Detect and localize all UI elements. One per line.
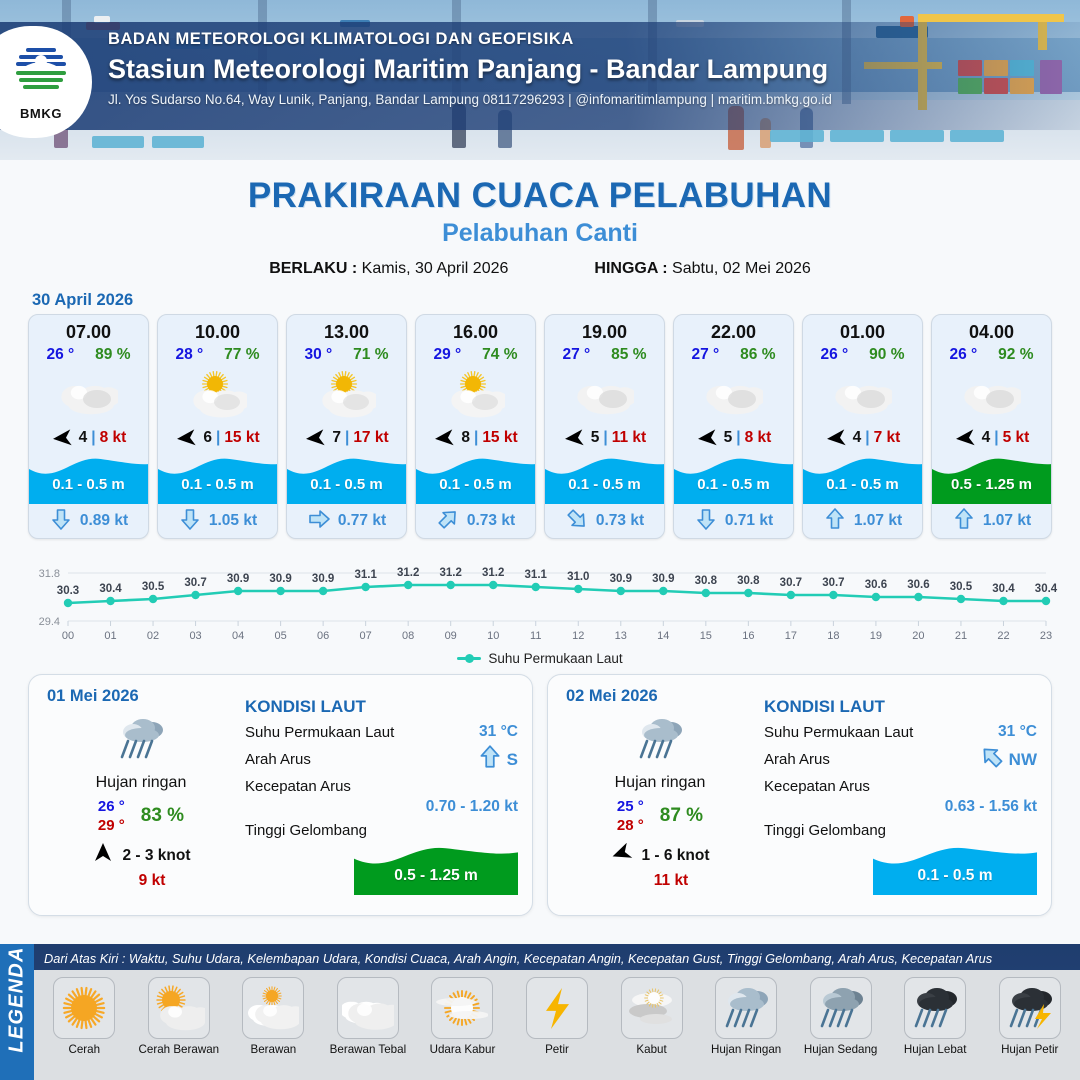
- wave-height-value: 0.1 - 0.5 m: [873, 867, 1037, 885]
- card-humidity: 86 %: [740, 346, 775, 364]
- wind-gust-value: 8 kt: [745, 429, 772, 447]
- legend-item: Hujan Ringan: [700, 977, 793, 1056]
- card-wind-row: 6 | 15 kt: [158, 424, 277, 454]
- bmkg-logo-mark: [10, 43, 72, 105]
- legend-note: Dari Atas Kiri : Waktu, Suhu Udara, Kele…: [34, 944, 1080, 970]
- card-temp-humidity: 30 ° 71 %: [287, 343, 406, 364]
- wind-speed-value: 8: [461, 429, 470, 447]
- daily-wind-range: 1 - 6 knot: [641, 847, 709, 865]
- svg-text:17: 17: [785, 630, 797, 642]
- daily-sea-conditions: KONDISI LAUT Suhu Permukaan Laut 31 °C A…: [758, 687, 1037, 905]
- daily-weather-icon: [43, 708, 239, 770]
- card-weather-icon: [803, 366, 922, 424]
- lightning-icon: [526, 977, 588, 1039]
- wave-height-label-text: Tinggi Gelombang: [245, 822, 367, 839]
- card-temperature: 28 °: [175, 346, 203, 364]
- svg-text:08: 08: [402, 630, 414, 642]
- card-humidity: 71 %: [353, 346, 388, 364]
- card-wave-block: 0.1 - 0.5 m: [674, 454, 793, 504]
- wind-separator: |: [994, 429, 998, 447]
- card-wave-block: 0.1 - 0.5 m: [803, 454, 922, 504]
- card-humidity: 85 %: [611, 346, 646, 364]
- svg-text:30.8: 30.8: [695, 575, 718, 587]
- svg-text:30.3: 30.3: [57, 585, 79, 597]
- legend-item: Hujan Sedang: [794, 977, 887, 1056]
- terminal-seat: [92, 136, 144, 148]
- legend-item: Petir: [511, 977, 604, 1056]
- daily-left-column: 01 Mei 2026 Hujan ringan 26 ° 29 ° 83 % …: [43, 687, 239, 905]
- card-temp-humidity: 27 ° 85 %: [545, 343, 664, 364]
- legend-item-label: Cerah: [68, 1043, 100, 1056]
- svg-text:30.9: 30.9: [312, 573, 334, 585]
- wind-gust-value: 11 kt: [612, 429, 646, 447]
- haze-sun-icon: [431, 977, 493, 1039]
- wave-height-label: 0.1 - 0.5 m: [29, 476, 148, 493]
- daily-forecast-row: 01 Mei 2026 Hujan ringan 26 ° 29 ° 83 % …: [0, 666, 1080, 916]
- card-wave-block: 0.1 - 0.5 m: [545, 454, 664, 504]
- card-temperature: 29 °: [433, 346, 461, 364]
- berlaku-group: BERLAKU : Kamis, 30 April 2026: [269, 260, 508, 278]
- svg-text:14: 14: [657, 630, 669, 642]
- current-speed-row: Kecepatan Arus: [245, 778, 518, 795]
- card-wind-row: 7 | 17 kt: [287, 424, 406, 454]
- legend-items: Cerah Cerah Berawan Berawan Beraw: [34, 970, 1080, 1080]
- daily-wind-gust: 11 kt: [584, 872, 758, 890]
- hourly-forecast-card: 01.00 26 ° 90 % 4 | 7 kt 0.1 - 0.5 m: [802, 314, 923, 539]
- wind-speed-value: 6: [203, 429, 212, 447]
- legend-item-label: Hujan Sedang: [804, 1043, 878, 1056]
- svg-text:31.8: 31.8: [39, 568, 60, 580]
- sst-label: Suhu Permukaan Laut: [764, 724, 913, 741]
- rain-moderate-icon: [810, 977, 872, 1039]
- card-temperature: 27 °: [691, 346, 719, 364]
- daily-left-column: 02 Mei 2026 Hujan ringan 25 ° 28 ° 87 % …: [562, 687, 758, 905]
- wave-height-row: Tinggi Gelombang: [764, 822, 1037, 839]
- hourly-forecast-card: 19.00 27 ° 85 % 5 | 11 kt 0.1 - 0.5 m: [544, 314, 665, 539]
- wind-speed-value: 5: [724, 429, 733, 447]
- card-weather-icon: [416, 366, 535, 424]
- svg-text:00: 00: [62, 630, 74, 642]
- wind-separator: |: [603, 429, 607, 447]
- daily-condition: Hujan ringan: [43, 774, 239, 792]
- hourly-forecast-card: 16.00 29 ° 74 % 8 | 15 kt 0.1 - 0.5 m: [415, 314, 536, 539]
- current-speed-value: 0.89 kt: [80, 512, 128, 530]
- current-speed-value: 1.07 kt: [854, 512, 902, 530]
- sun-cloud-icon: [148, 977, 210, 1039]
- current-direction-arrow-icon: [694, 507, 718, 536]
- svg-text:22: 22: [997, 630, 1009, 642]
- validity-row: BERLAKU : Kamis, 30 April 2026 HINGGA : …: [0, 260, 1080, 278]
- card-current-row: 0.89 kt: [29, 504, 148, 538]
- daily-weather-icon: [562, 708, 758, 770]
- svg-text:30.4: 30.4: [99, 583, 122, 595]
- current-speed-value: 0.63 - 1.56 kt: [764, 798, 1037, 816]
- card-time: 22.00: [674, 315, 793, 343]
- terminal-seat: [950, 130, 1004, 142]
- daily-forecast-panel: 02 Mei 2026 Hujan ringan 25 ° 28 ° 87 % …: [547, 674, 1052, 916]
- wind-gust-value: 17 kt: [353, 429, 388, 447]
- current-direction-arrow-icon: [565, 507, 589, 536]
- card-wind-row: 5 | 11 kt: [545, 424, 664, 454]
- wind-separator: |: [865, 429, 869, 447]
- card-current-row: 0.73 kt: [545, 504, 664, 538]
- card-temperature: 26 °: [949, 346, 977, 364]
- wave-height-label: 0.1 - 0.5 m: [545, 476, 664, 493]
- svg-text:30.6: 30.6: [865, 579, 887, 591]
- svg-text:30.9: 30.9: [269, 573, 291, 585]
- card-temp-humidity: 26 ° 89 %: [29, 343, 148, 364]
- wind-direction-arrow-icon: [610, 843, 634, 868]
- card-wind-row: 4 | 8 kt: [29, 424, 148, 454]
- legend-sidebar: LEGENDA: [0, 944, 34, 1080]
- svg-text:20: 20: [912, 630, 924, 642]
- svg-text:31.1: 31.1: [525, 569, 548, 581]
- current-direction-row: Arah Arus NW: [764, 744, 1037, 775]
- daily-condition: Hujan ringan: [562, 774, 758, 792]
- legend-body: Dari Atas Kiri : Waktu, Suhu Udara, Kele…: [34, 944, 1080, 1080]
- legend-marker-icon: [457, 657, 481, 660]
- svg-text:31.2: 31.2: [482, 567, 504, 579]
- legend-item-label: Berawan: [250, 1043, 296, 1056]
- wind-gust-value: 15 kt: [482, 429, 517, 447]
- terminal-seat: [830, 130, 884, 142]
- current-direction-arrow-icon: [952, 507, 976, 536]
- daily-forecast-panel: 01 Mei 2026 Hujan ringan 26 ° 29 ° 83 % …: [28, 674, 533, 916]
- card-temperature: 26 °: [820, 346, 848, 364]
- card-current-row: 1.07 kt: [803, 504, 922, 538]
- card-wind-row: 4 | 5 kt: [932, 424, 1051, 454]
- title-block: PRAKIRAAN CUACA PELABUHAN Pelabuhan Cant…: [0, 176, 1080, 278]
- wave-height-graphic: 0.1 - 0.5 m: [764, 843, 1037, 895]
- legend-item-label: Cerah Berawan: [139, 1043, 220, 1056]
- legend-item: Udara Kabur: [416, 977, 509, 1056]
- card-weather-icon: [545, 366, 664, 424]
- current-direction-row: Arah Arus S: [245, 744, 518, 775]
- sst-row: Suhu Permukaan Laut 31 °C: [245, 723, 518, 741]
- svg-text:06: 06: [317, 630, 329, 642]
- svg-text:30.5: 30.5: [950, 581, 973, 593]
- card-current-row: 0.77 kt: [287, 504, 406, 538]
- bmkg-logo-text: BMKG: [20, 106, 62, 121]
- card-current-row: 1.07 kt: [932, 504, 1051, 538]
- wind-separator: |: [216, 429, 220, 447]
- card-weather-icon: [29, 366, 148, 424]
- sst-chart-svg: 31.829.400010203040506070809101112131415…: [16, 549, 1064, 649]
- svg-text:03: 03: [189, 630, 201, 642]
- card-humidity: 90 %: [869, 346, 904, 364]
- current-direction-arrow-icon: [979, 744, 1005, 775]
- wind-separator: |: [91, 429, 95, 447]
- current-direction-arrow-icon: [49, 507, 73, 536]
- wind-direction-arrow-icon: [304, 428, 328, 448]
- card-time: 13.00: [287, 315, 406, 343]
- card-wave-block: 0.1 - 0.5 m: [287, 454, 406, 504]
- hourly-forecast-card: 10.00 28 ° 77 % 6 | 15 kt 0.1 - 0.5 m: [157, 314, 278, 539]
- hourly-date-label: 30 April 2026: [32, 291, 1080, 310]
- card-wind-row: 8 | 15 kt: [416, 424, 535, 454]
- legend-sidebar-title: LEGENDA: [6, 945, 29, 1055]
- rain-light-icon: [715, 977, 777, 1039]
- daily-date: 01 Mei 2026: [47, 687, 239, 706]
- card-time: 01.00: [803, 315, 922, 343]
- svg-text:30.9: 30.9: [227, 573, 249, 585]
- svg-text:30.7: 30.7: [184, 577, 206, 589]
- current-speed-value: 0.70 - 1.20 kt: [245, 798, 518, 816]
- wind-speed-value: 4: [982, 429, 991, 447]
- daily-temp-max: 28 °: [617, 817, 644, 834]
- sea-conditions-title: KONDISI LAUT: [764, 697, 1037, 717]
- legend-item-label: Petir: [545, 1043, 569, 1056]
- card-temperature: 26 °: [46, 346, 74, 364]
- wind-speed-value: 4: [853, 429, 862, 447]
- wind-gust-value: 15 kt: [224, 429, 259, 447]
- svg-text:09: 09: [445, 630, 457, 642]
- svg-text:30.5: 30.5: [142, 581, 165, 593]
- wave-height-label: 0.1 - 0.5 m: [803, 476, 922, 493]
- cloud-sun-small-icon: [242, 977, 304, 1039]
- wave-height-row: Tinggi Gelombang: [245, 822, 518, 839]
- wind-speed-value: 7: [332, 429, 341, 447]
- daily-humidity: 83 %: [141, 805, 184, 827]
- daily-temp-humidity: 25 ° 28 ° 87 %: [562, 798, 758, 834]
- daily-wind-row: 1 - 6 knot: [562, 843, 758, 868]
- wind-separator: |: [736, 429, 740, 447]
- legend-section: LEGENDA Dari Atas Kiri : Waktu, Suhu Uda…: [0, 944, 1080, 1080]
- legend-item: Hujan Lebat: [889, 977, 982, 1056]
- station-name: Stasiun Meteorologi Maritim Panjang - Ba…: [108, 54, 832, 85]
- current-direction-group: S: [477, 744, 518, 775]
- wave-height-value: 0.5 - 1.25 m: [354, 867, 518, 885]
- daily-wind-row: 2 - 3 knot: [43, 843, 239, 868]
- wave-height-label: 0.1 - 0.5 m: [158, 476, 277, 493]
- current-direction-text: S: [507, 750, 518, 770]
- svg-text:30.6: 30.6: [907, 579, 929, 591]
- sst-value: 31 °C: [479, 723, 518, 741]
- svg-text:30.9: 30.9: [652, 573, 674, 585]
- svg-text:16: 16: [742, 630, 754, 642]
- daily-wind-range: 2 - 3 knot: [122, 847, 190, 865]
- daily-temp-min: 26 °: [98, 798, 125, 815]
- daily-date: 02 Mei 2026: [566, 687, 758, 706]
- wind-separator: |: [474, 429, 478, 447]
- berlaku-value: Kamis, 30 April 2026: [362, 260, 509, 277]
- current-speed-label: Kecepatan Arus: [245, 778, 351, 795]
- wind-direction-arrow-icon: [696, 428, 720, 448]
- thunderstorm-icon: [999, 977, 1061, 1039]
- wind-separator: |: [345, 429, 349, 447]
- card-time: 19.00: [545, 315, 664, 343]
- legend-item: Kabut: [605, 977, 698, 1056]
- wind-direction-arrow-icon: [91, 843, 115, 868]
- wind-gust-value: 8 kt: [100, 429, 127, 447]
- wave-height-label: 0.1 - 0.5 m: [287, 476, 406, 493]
- current-direction-label: Arah Arus: [245, 751, 311, 768]
- agency-name: BADAN METEOROLOGI KLIMATOLOGI DAN GEOFIS…: [108, 30, 832, 49]
- card-weather-icon: [287, 366, 406, 424]
- card-current-row: 0.71 kt: [674, 504, 793, 538]
- current-speed-value: 0.73 kt: [467, 512, 515, 530]
- current-speed-label: Kecepatan Arus: [764, 778, 870, 795]
- svg-text:15: 15: [700, 630, 712, 642]
- svg-text:31.1: 31.1: [354, 569, 377, 581]
- card-humidity: 92 %: [998, 346, 1033, 364]
- sst-chart: 31.829.400010203040506070809101112131415…: [16, 549, 1064, 649]
- card-temp-humidity: 27 ° 86 %: [674, 343, 793, 364]
- current-speed-value: 0.73 kt: [596, 512, 644, 530]
- card-time: 16.00: [416, 315, 535, 343]
- card-wave-block: 0.1 - 0.5 m: [158, 454, 277, 504]
- card-wave-block: 0.1 - 0.5 m: [416, 454, 535, 504]
- legend-item: Hujan Petir: [983, 977, 1076, 1056]
- card-time: 10.00: [158, 315, 277, 343]
- svg-text:21: 21: [955, 630, 967, 642]
- legend-item: Cerah: [38, 977, 131, 1056]
- svg-text:19: 19: [870, 630, 882, 642]
- legend-item-label: Hujan Petir: [1001, 1043, 1058, 1056]
- page-header: BMKG BADAN METEOROLOGI KLIMATOLOGI DAN G…: [0, 0, 1080, 160]
- card-temp-humidity: 26 ° 90 %: [803, 343, 922, 364]
- legend-item-label: Berawan Tebal: [330, 1043, 407, 1056]
- svg-text:10: 10: [487, 630, 499, 642]
- svg-text:30.4: 30.4: [1035, 583, 1058, 595]
- svg-text:30.4: 30.4: [992, 583, 1015, 595]
- daily-humidity: 87 %: [660, 805, 703, 827]
- wave-height-label: 0.1 - 0.5 m: [674, 476, 793, 493]
- daily-temp-range: 25 ° 28 °: [617, 798, 644, 834]
- card-temp-humidity: 29 ° 74 %: [416, 343, 535, 364]
- current-direction-arrow-icon: [307, 507, 331, 536]
- fog-icon: [621, 977, 683, 1039]
- wind-direction-arrow-icon: [563, 428, 587, 448]
- svg-text:02: 02: [147, 630, 159, 642]
- daily-temp-humidity: 26 ° 29 ° 83 %: [43, 798, 239, 834]
- current-speed-value: 0.77 kt: [338, 512, 386, 530]
- card-weather-icon: [932, 366, 1051, 424]
- hourly-forecast-card: 22.00 27 ° 86 % 5 | 8 kt 0.1 - 0.5 m: [673, 314, 794, 539]
- hourly-forecast-card: 04.00 26 ° 92 % 4 | 5 kt 0.5 - 1.25 m: [931, 314, 1052, 539]
- rain-heavy-icon: [904, 977, 966, 1039]
- svg-text:29.4: 29.4: [39, 616, 60, 628]
- card-temp-humidity: 26 ° 92 %: [932, 343, 1051, 364]
- legend-item: Cerah Berawan: [133, 977, 226, 1056]
- legend-item: Berawan: [227, 977, 320, 1056]
- current-direction-text: NW: [1009, 750, 1037, 770]
- station-contact: Jl. Yos Sudarso No.64, Way Lunik, Panjan…: [108, 92, 832, 107]
- legend-item-label: Udara Kabur: [430, 1043, 496, 1056]
- card-time: 04.00: [932, 315, 1051, 343]
- svg-text:30.9: 30.9: [610, 573, 632, 585]
- hourly-forecast-row: 07.00 26 ° 89 % 4 | 8 kt 0.1 - 0.5 m: [0, 314, 1080, 539]
- daily-wind-gust: 9 kt: [65, 872, 239, 890]
- hourly-forecast-card: 07.00 26 ° 89 % 4 | 8 kt 0.1 - 0.5 m: [28, 314, 149, 539]
- clouds-icon: [337, 977, 399, 1039]
- bmkg-emblem-icon: [10, 43, 72, 101]
- daily-temp-min: 25 °: [617, 798, 644, 815]
- wave-height-label: 0.5 - 1.25 m: [932, 476, 1051, 493]
- sst-value: 31 °C: [998, 723, 1037, 741]
- svg-text:31.0: 31.0: [567, 571, 589, 583]
- wind-direction-arrow-icon: [175, 428, 199, 448]
- svg-text:05: 05: [274, 630, 286, 642]
- wind-gust-value: 5 kt: [1003, 429, 1030, 447]
- svg-text:04: 04: [232, 630, 244, 642]
- card-wind-row: 5 | 8 kt: [674, 424, 793, 454]
- svg-text:13: 13: [615, 630, 627, 642]
- card-current-row: 1.05 kt: [158, 504, 277, 538]
- legend-item: Berawan Tebal: [322, 977, 415, 1056]
- card-time: 07.00: [29, 315, 148, 343]
- terminal-seat: [890, 130, 944, 142]
- current-speed-row: Kecepatan Arus: [764, 778, 1037, 795]
- daily-sea-conditions: KONDISI LAUT Suhu Permukaan Laut 31 °C A…: [239, 687, 518, 905]
- current-direction-arrow-icon: [436, 507, 460, 536]
- terminal-seat: [152, 136, 204, 148]
- card-humidity: 89 %: [95, 346, 130, 364]
- wind-gust-value: 7 kt: [874, 429, 901, 447]
- card-wave-block: 0.5 - 1.25 m: [932, 454, 1051, 504]
- card-humidity: 74 %: [482, 346, 517, 364]
- card-wind-row: 4 | 7 kt: [803, 424, 922, 454]
- card-weather-icon: [674, 366, 793, 424]
- legend-item-label: Kabut: [636, 1043, 666, 1056]
- daily-temp-max: 29 °: [98, 817, 125, 834]
- berlaku-label: BERLAKU :: [269, 260, 357, 277]
- wind-direction-arrow-icon: [825, 428, 849, 448]
- wind-direction-arrow-icon: [954, 428, 978, 448]
- wind-speed-value: 4: [79, 429, 88, 447]
- svg-text:31.2: 31.2: [440, 567, 462, 579]
- chart-legend: Suhu Permukaan Laut: [0, 651, 1080, 666]
- svg-text:12: 12: [572, 630, 584, 642]
- wind-direction-arrow-icon: [433, 428, 457, 448]
- current-speed-value: 1.05 kt: [209, 512, 257, 530]
- svg-text:01: 01: [104, 630, 116, 642]
- daily-temp-range: 26 ° 29 °: [98, 798, 125, 834]
- port-name: Pelabuhan Canti: [0, 219, 1080, 248]
- current-direction-arrow-icon: [823, 507, 847, 536]
- sun-icon: [53, 977, 115, 1039]
- wave-height-label: 0.1 - 0.5 m: [416, 476, 535, 493]
- card-weather-icon: [158, 366, 277, 424]
- svg-text:23: 23: [1040, 630, 1052, 642]
- wind-speed-value: 5: [591, 429, 600, 447]
- svg-text:30.7: 30.7: [822, 577, 844, 589]
- current-direction-group: NW: [979, 744, 1037, 775]
- current-direction-label: Arah Arus: [764, 751, 830, 768]
- svg-text:18: 18: [827, 630, 839, 642]
- current-direction-arrow-icon: [477, 744, 503, 775]
- hingga-value: Sabtu, 02 Mei 2026: [672, 260, 811, 277]
- card-current-row: 0.73 kt: [416, 504, 535, 538]
- svg-text:30.8: 30.8: [737, 575, 760, 587]
- page-title: PRAKIRAAN CUACA PELABUHAN: [0, 176, 1080, 216]
- legend-item-label: Hujan Lebat: [904, 1043, 967, 1056]
- sea-conditions-title: KONDISI LAUT: [245, 697, 518, 717]
- hourly-forecast-card: 13.00 30 ° 71 % 7 | 17 kt 0.1 - 0.5 m: [286, 314, 407, 539]
- card-wave-block: 0.1 - 0.5 m: [29, 454, 148, 504]
- wave-height-label-text: Tinggi Gelombang: [764, 822, 886, 839]
- svg-text:30.7: 30.7: [780, 577, 802, 589]
- sst-label: Suhu Permukaan Laut: [245, 724, 394, 741]
- svg-text:11: 11: [530, 630, 541, 642]
- card-temperature: 27 °: [562, 346, 590, 364]
- card-temp-humidity: 28 ° 77 %: [158, 343, 277, 364]
- svg-text:31.2: 31.2: [397, 567, 419, 579]
- sst-row: Suhu Permukaan Laut 31 °C: [764, 723, 1037, 741]
- hingga-label: HINGGA :: [594, 260, 667, 277]
- card-humidity: 77 %: [224, 346, 259, 364]
- hingga-group: HINGGA : Sabtu, 02 Mei 2026: [594, 260, 810, 278]
